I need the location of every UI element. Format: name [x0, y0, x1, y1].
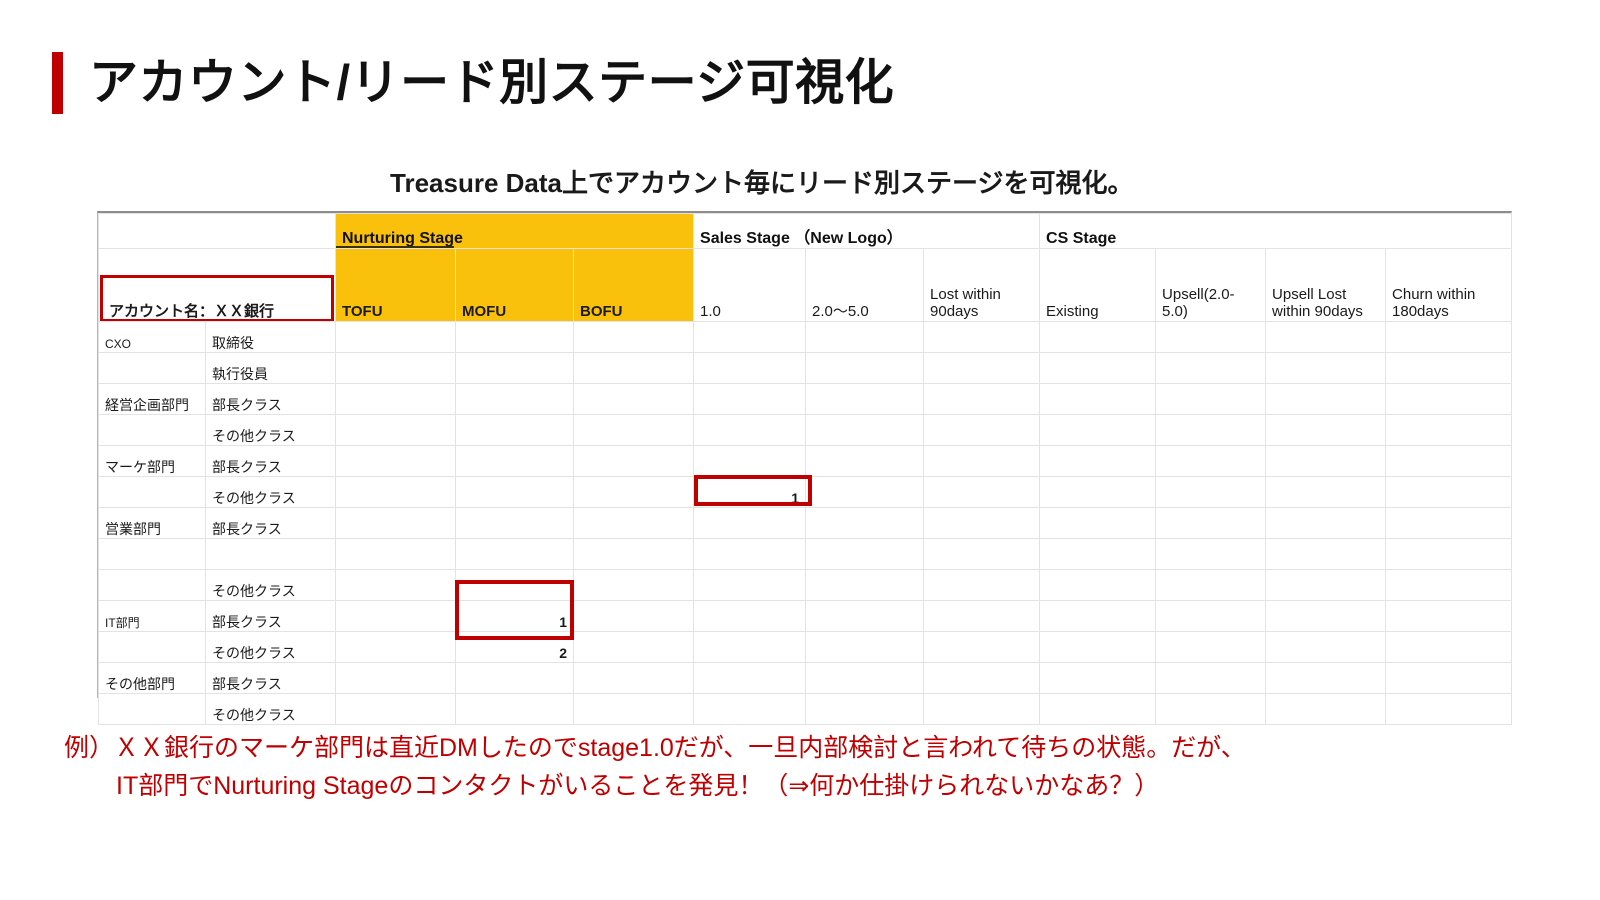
column-header-cs-churn: Churn within 180days [1386, 249, 1512, 322]
cell-mofu[interactable] [456, 477, 574, 508]
cell-sales-2[interactable] [806, 353, 924, 384]
cell-cs-upsell[interactable] [1156, 632, 1266, 663]
table-row: 執行役員 [99, 353, 1512, 384]
cell-bofu[interactable] [574, 570, 694, 601]
cell-sales-2[interactable] [806, 601, 924, 632]
cell-sales-2[interactable] [806, 384, 924, 415]
cell-cs-existing[interactable] [1040, 632, 1156, 663]
cell-sales-1[interactable]: 1 [694, 477, 806, 508]
stage-table: Nurturing Stage Sales Stage （New Logo） C… [98, 213, 1512, 725]
column-header-cs-existing: Existing [1040, 249, 1156, 322]
role-label [206, 539, 336, 570]
group-header-nurturing: Nurturing Stage [336, 214, 694, 249]
cell-mofu[interactable]: 1 [456, 601, 574, 632]
stage-visualization-table: Nurturing Stage Sales Stage （New Logo） C… [97, 211, 1512, 698]
title-block: アカウント/リード別ステージ可視化 [52, 52, 894, 114]
cell-sales-2[interactable] [806, 508, 924, 539]
cell-cs-upsell-lost[interactable] [1266, 322, 1386, 353]
dept-label: 営業部門 [99, 508, 206, 539]
table-row: マーケ部門 部長クラス [99, 446, 1512, 477]
role-label: 部長クラス [206, 446, 336, 477]
cell-tofu[interactable] [336, 539, 456, 570]
cell-tofu[interactable] [336, 415, 456, 446]
cell-sales-lost[interactable] [924, 508, 1040, 539]
cell-cs-upsell[interactable] [1156, 539, 1266, 570]
cell-cs-upsell-lost[interactable] [1266, 415, 1386, 446]
cell-tofu[interactable] [336, 322, 456, 353]
dept-label: マーケ部門 [99, 446, 206, 477]
cell-bofu[interactable] [574, 632, 694, 663]
dept-label [99, 570, 206, 601]
cell-tofu[interactable] [336, 694, 456, 725]
cell-mofu[interactable]: 2 [456, 632, 574, 663]
table-row: その他クラス 1 [99, 477, 1512, 508]
cell-cs-upsell[interactable] [1156, 570, 1266, 601]
cell-mofu[interactable] [456, 322, 574, 353]
account-name-label: アカウント名：ＸＸ銀行 [105, 303, 274, 320]
cell-bofu[interactable] [574, 415, 694, 446]
cell-cs-upsell-lost[interactable] [1266, 663, 1386, 694]
cell-cs-churn[interactable] [1386, 601, 1512, 632]
cell-cs-upsell-lost[interactable] [1266, 694, 1386, 725]
cell-sales-2[interactable] [806, 632, 924, 663]
cell-sales-lost[interactable] [924, 539, 1040, 570]
cell-cs-churn[interactable] [1386, 477, 1512, 508]
cell-cs-existing[interactable] [1040, 539, 1156, 570]
cell-sales-1[interactable] [694, 694, 806, 725]
column-header-sales-lost: Lost within 90days [924, 249, 1040, 322]
cell-bofu[interactable] [574, 508, 694, 539]
cell-mofu[interactable] [456, 663, 574, 694]
cell-sales-2[interactable] [806, 570, 924, 601]
cell-mofu[interactable] [456, 415, 574, 446]
cell-sales-lost[interactable] [924, 446, 1040, 477]
cell-cs-upsell[interactable] [1156, 601, 1266, 632]
group-header-sales: Sales Stage （New Logo） [694, 214, 1040, 249]
cell-sales-1[interactable] [694, 415, 806, 446]
group-header-cs: CS Stage [1040, 214, 1512, 249]
cell-cs-upsell-lost[interactable] [1266, 446, 1386, 477]
column-header-mofu: MOFU [456, 249, 574, 322]
cell-sales-1[interactable] [694, 539, 806, 570]
cell-sales-2[interactable] [806, 477, 924, 508]
caption-line-2: IT部門でNurturing Stageのコンタクトがいることを発見！（⇒何か仕… [64, 767, 1544, 805]
cell-bofu[interactable] [574, 322, 694, 353]
table-row: その他クラス [99, 570, 1512, 601]
cell-cs-upsell[interactable] [1156, 415, 1266, 446]
cell-cs-churn[interactable] [1386, 632, 1512, 663]
subtitle: Treasure Data上でアカウント毎にリード別ステージを可視化。 [390, 163, 1133, 200]
role-label: 部長クラス [206, 508, 336, 539]
cell-cs-existing[interactable] [1040, 601, 1156, 632]
cell-tofu[interactable] [336, 663, 456, 694]
cell-sales-1[interactable] [694, 322, 806, 353]
cell-cs-upsell-lost[interactable] [1266, 632, 1386, 663]
cell-cs-churn[interactable] [1386, 415, 1512, 446]
table-row [99, 539, 1512, 570]
cell-sales-lost[interactable] [924, 601, 1040, 632]
cell-sales-lost[interactable] [924, 632, 1040, 663]
cell-cs-existing[interactable] [1040, 384, 1156, 415]
table-row: その他クラス [99, 415, 1512, 446]
dept-label [99, 539, 206, 570]
dept-label: CXO [99, 322, 206, 353]
cell-cs-existing[interactable] [1040, 415, 1156, 446]
cell-sales-1[interactable] [694, 663, 806, 694]
cell-cs-upsell-lost[interactable] [1266, 601, 1386, 632]
cell-cs-existing[interactable] [1040, 508, 1156, 539]
cell-cs-churn[interactable] [1386, 694, 1512, 725]
cell-cs-churn[interactable] [1386, 539, 1512, 570]
cell-cs-upsell-lost[interactable] [1266, 570, 1386, 601]
caption-note: 例）ＸＸ銀行のマーケ部門は直近DMしたのでstage1.0だが、一旦内部検討と言… [64, 729, 1544, 805]
cell-sales-1[interactable] [694, 384, 806, 415]
cell-cs-churn[interactable] [1386, 446, 1512, 477]
cell-tofu[interactable] [336, 353, 456, 384]
cell-sales-1[interactable] [694, 601, 806, 632]
table-row: 営業部門 部長クラス [99, 508, 1512, 539]
cell-tofu[interactable] [336, 632, 456, 663]
cell-cs-existing[interactable] [1040, 446, 1156, 477]
role-label: その他クラス [206, 415, 336, 446]
caption-line-1: 例）ＸＸ銀行のマーケ部門は直近DMしたのでstage1.0だが、一旦内部検討と言… [64, 734, 1246, 762]
column-header-cs-upsell-lost: Upsell Lost within 90days [1266, 249, 1386, 322]
cell-cs-upsell[interactable] [1156, 663, 1266, 694]
cell-sales-1[interactable] [694, 353, 806, 384]
cell-cs-churn[interactable] [1386, 322, 1512, 353]
cell-cs-churn[interactable] [1386, 508, 1512, 539]
role-label: その他クラス [206, 570, 336, 601]
group-header-row: Nurturing Stage Sales Stage （New Logo） C… [99, 214, 1512, 249]
cell-cs-upsell[interactable] [1156, 477, 1266, 508]
cell-cs-upsell-lost[interactable] [1266, 539, 1386, 570]
cell-sales-1[interactable] [694, 508, 806, 539]
cell-cs-churn[interactable] [1386, 384, 1512, 415]
cell-sales-2[interactable] [806, 539, 924, 570]
table-row: その他クラス 2 [99, 632, 1512, 663]
title-accent-bar [52, 52, 63, 114]
role-label: 執行役員 [206, 353, 336, 384]
table-row: CXO 取締役 [99, 322, 1512, 353]
column-header-cs-upsell: Upsell(2.0-5.0) [1156, 249, 1266, 322]
dept-label [99, 632, 206, 663]
cell-sales-1[interactable] [694, 570, 806, 601]
cell-sales-2[interactable] [806, 322, 924, 353]
group-header-blank [99, 214, 336, 249]
table-row: 経営企画部門 部長クラス [99, 384, 1512, 415]
group-header-sales-label: Sales Stage [700, 230, 790, 247]
cell-sales-lost[interactable] [924, 322, 1040, 353]
cell-sales-lost[interactable] [924, 694, 1040, 725]
cell-cs-existing[interactable] [1040, 694, 1156, 725]
cell-cs-upsell[interactable] [1156, 446, 1266, 477]
cell-mofu[interactable] [456, 384, 574, 415]
group-header-sales-suffix: （New Logo） [794, 230, 902, 247]
cell-sales-lost[interactable] [924, 663, 1040, 694]
cell-cs-existing[interactable] [1040, 663, 1156, 694]
cell-sales-1[interactable] [694, 632, 806, 663]
cell-sales-2[interactable] [806, 415, 924, 446]
cell-cs-churn[interactable] [1386, 663, 1512, 694]
cell-cs-upsell[interactable] [1156, 384, 1266, 415]
cell-cs-existing[interactable] [1040, 322, 1156, 353]
group-header-nurturing-label: Nurturing Stage [342, 230, 463, 247]
cell-cs-upsell[interactable] [1156, 694, 1266, 725]
cell-sales-lost[interactable] [924, 477, 1040, 508]
column-header-row: アカウント名：ＸＸ銀行 TOFU MOFU BOFU 1.0 2.0〜5.0 L… [99, 249, 1512, 322]
cell-mofu[interactable] [456, 353, 574, 384]
cell-bofu[interactable] [574, 446, 694, 477]
cell-cs-upsell-lost[interactable] [1266, 477, 1386, 508]
cell-sales-2[interactable] [806, 663, 924, 694]
cell-sales-lost[interactable] [924, 570, 1040, 601]
cell-bofu[interactable] [574, 384, 694, 415]
cell-bofu[interactable] [574, 694, 694, 725]
cell-sales-lost[interactable] [924, 415, 1040, 446]
cell-tofu[interactable] [336, 446, 456, 477]
role-label: 部長クラス [206, 663, 336, 694]
sales-stage-spellcheck: Sales Stage [700, 230, 790, 248]
cell-cs-existing[interactable] [1040, 477, 1156, 508]
cell-cs-churn[interactable] [1386, 353, 1512, 384]
cell-tofu[interactable] [336, 384, 456, 415]
cell-cs-churn[interactable] [1386, 570, 1512, 601]
cell-cs-upsell-lost[interactable] [1266, 508, 1386, 539]
cell-bofu[interactable] [574, 353, 694, 384]
cell-sales-lost[interactable] [924, 384, 1040, 415]
cell-bofu[interactable] [574, 601, 694, 632]
cell-mofu[interactable] [456, 508, 574, 539]
table-row: IT部門 部長クラス 1 [99, 601, 1512, 632]
cell-cs-upsell-lost[interactable] [1266, 353, 1386, 384]
cell-bofu[interactable] [574, 539, 694, 570]
table-row: その他部門 部長クラス [99, 663, 1512, 694]
table-row: その他クラス [99, 694, 1512, 725]
column-header-sales-2: 2.0〜5.0 [806, 249, 924, 322]
account-name-cell: アカウント名：ＸＸ銀行 [99, 249, 336, 322]
role-label: 部長クラス [206, 384, 336, 415]
column-header-tofu: TOFU [336, 249, 456, 322]
role-label: 部長クラス [206, 601, 336, 632]
cell-bofu[interactable] [574, 477, 694, 508]
cell-tofu[interactable] [336, 508, 456, 539]
dept-label [99, 477, 206, 508]
cell-cs-upsell-lost[interactable] [1266, 384, 1386, 415]
dept-label [99, 353, 206, 384]
role-label: その他クラス [206, 477, 336, 508]
column-header-bofu: BOFU [574, 249, 694, 322]
cell-mofu[interactable] [456, 539, 574, 570]
cell-mofu[interactable] [456, 446, 574, 477]
cell-cs-upsell[interactable] [1156, 322, 1266, 353]
cell-cs-existing[interactable] [1040, 570, 1156, 601]
cell-tofu[interactable] [336, 570, 456, 601]
dept-label: その他部門 [99, 663, 206, 694]
cell-sales-1[interactable] [694, 446, 806, 477]
column-header-sales-1: 1.0 [694, 249, 806, 322]
cell-sales-2[interactable] [806, 446, 924, 477]
cell-mofu[interactable] [456, 694, 574, 725]
cell-cs-upsell[interactable] [1156, 508, 1266, 539]
role-label: 取締役 [206, 322, 336, 353]
cell-bofu[interactable] [574, 663, 694, 694]
dept-label: 経営企画部門 [99, 384, 206, 415]
dept-label: IT部門 [99, 601, 206, 632]
dept-label [99, 415, 206, 446]
cell-tofu[interactable] [336, 477, 456, 508]
cell-tofu[interactable] [336, 601, 456, 632]
page-title: アカウント/リード別ステージ可視化 [89, 59, 894, 108]
cell-cs-existing[interactable] [1040, 353, 1156, 384]
role-label: その他クラス [206, 694, 336, 725]
cell-sales-lost[interactable] [924, 353, 1040, 384]
role-label: その他クラス [206, 632, 336, 663]
cell-mofu[interactable] [456, 570, 574, 601]
dept-label [99, 694, 206, 725]
nurturing-underline [336, 246, 454, 249]
cell-sales-2[interactable] [806, 694, 924, 725]
cell-cs-upsell[interactable] [1156, 353, 1266, 384]
